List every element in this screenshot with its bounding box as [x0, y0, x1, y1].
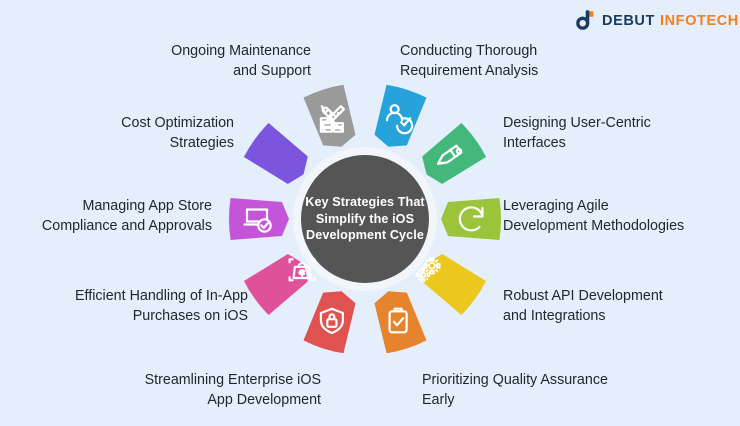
label-requirement-analysis: Conducting Thorough Requirement Analysis — [400, 41, 640, 82]
label-api-development: Robust API Development and Integrations — [503, 286, 735, 327]
segment-ring-visible — [229, 83, 501, 355]
brand-logo: DEBUT INFOTECH — [572, 9, 739, 33]
label-app-store-compliance: Managing App Store Compliance and Approv… — [14, 196, 212, 237]
label-quality-assurance: Prioritizing Quality Assurance Early — [422, 370, 672, 411]
label-enterprise-app-development: Streamlining Enterprise iOS App Developm… — [78, 370, 321, 411]
petal-app-store-compliance[interactable] — [229, 198, 289, 240]
label-maintenance-support: Ongoing Maintenance and Support — [34, 41, 311, 82]
label-agile-methodologies: Leveraging Agile Development Methodologi… — [503, 196, 737, 237]
petal-requirement-analysis[interactable] — [369, 83, 427, 153]
label-in-app-purchases: Efficient Handling of In-App Purchases o… — [8, 286, 248, 327]
label-cost-optimization: Cost Optimization Strategies — [34, 113, 234, 154]
petal-quality-assurance[interactable] — [369, 285, 427, 355]
label-user-centric-interfaces: Designing User-Centric Interfaces — [503, 113, 733, 154]
brand-wordmark: DEBUT INFOTECH — [602, 14, 739, 29]
debut-d-logo-icon — [572, 9, 596, 33]
strategy-wheel: Key Strategies That Simplify the iOS Dev… — [228, 82, 502, 356]
petal-agile-methodologies[interactable] — [441, 198, 501, 240]
infographic-canvas: DEBUT INFOTECH — [0, 0, 740, 426]
brand-name-secondary: INFOTECH — [660, 14, 739, 29]
hub — [293, 147, 437, 291]
brand-name-primary: DEBUT — [602, 14, 655, 29]
